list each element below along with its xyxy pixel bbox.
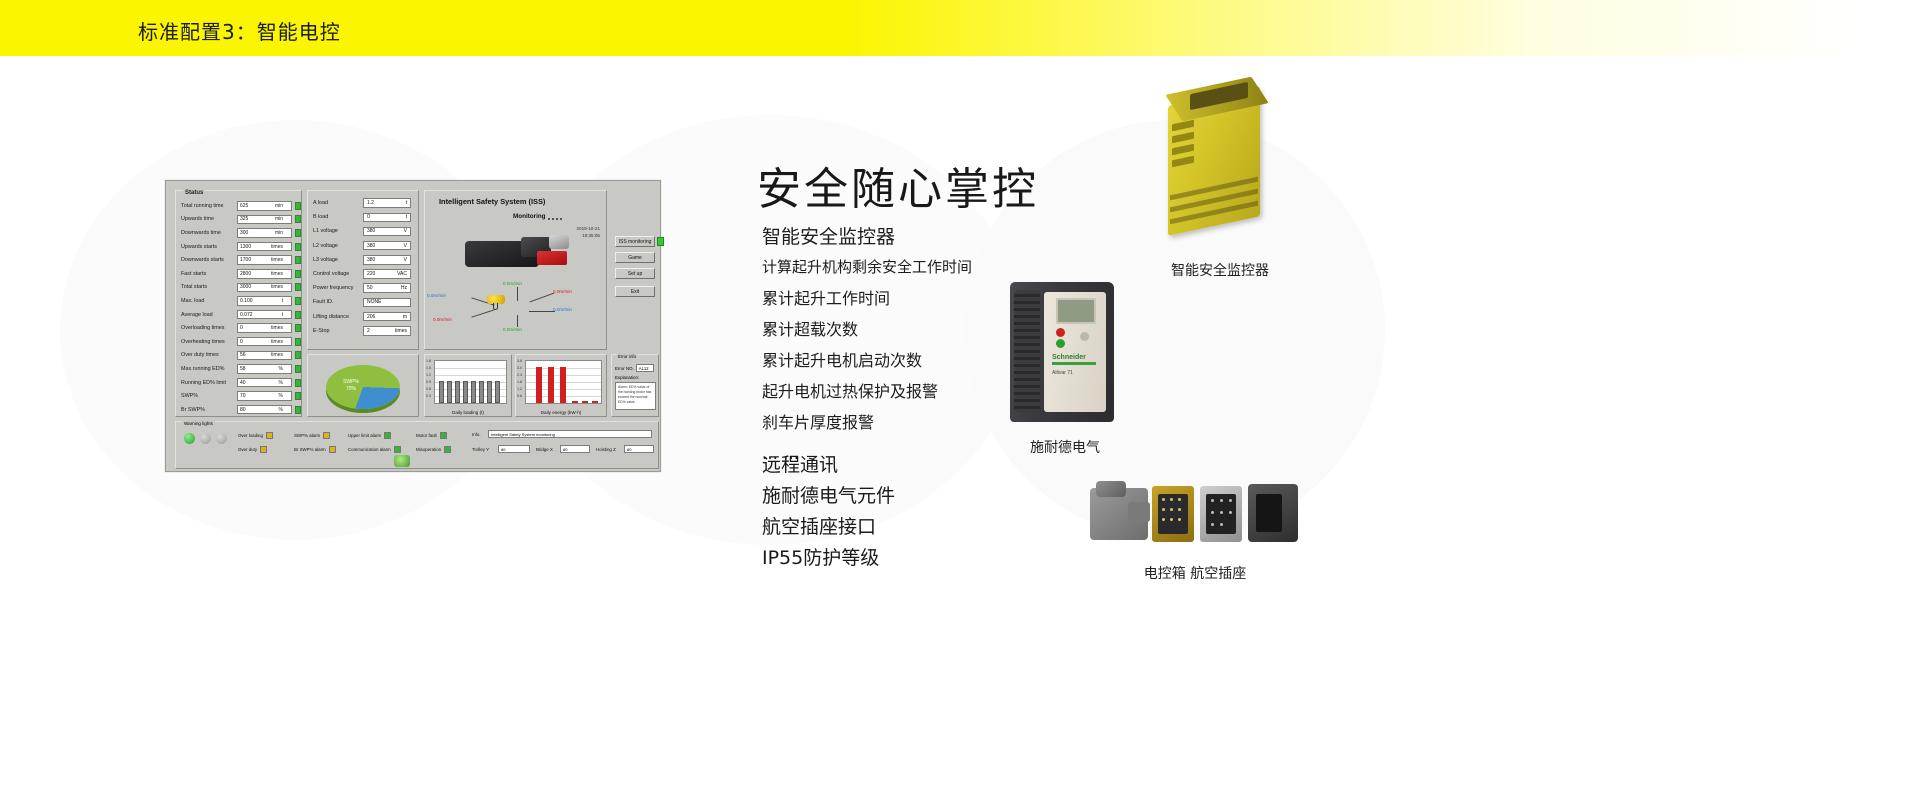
y-tick: 1.8 [517, 380, 522, 384]
game-button[interactable]: Game [615, 252, 655, 263]
row-label: Total running time [181, 203, 237, 209]
iss-title: Intelligent Safety System (ISS) [439, 197, 545, 206]
warning-led [329, 446, 336, 453]
row-value[interactable]: 1300times [237, 242, 292, 252]
error-explain-text: Alarm: ED% value of the hoisting motor h… [615, 382, 656, 410]
row-label: Downwards time [181, 230, 237, 236]
warning-item: Communication alarm [348, 446, 401, 453]
unit-text: t [406, 200, 407, 206]
warning-led [444, 446, 451, 453]
error-group-title: Error info [617, 354, 637, 359]
row-label: Overheating times [181, 339, 237, 345]
value-text: 2800 [240, 271, 251, 277]
warning-lights-group: Warning lights Over loading SWP% alarm U… [175, 421, 659, 469]
speed-label-right-down: 0.0m/min [553, 307, 572, 312]
y-tick: 3.6 [517, 359, 522, 363]
y-tick: 1.5 [426, 366, 431, 370]
connector-housing-black [1248, 484, 1298, 542]
row-label: Running ED% limit [181, 380, 237, 386]
status-group: Status Total running time625min Upwards … [175, 190, 302, 417]
row-value[interactable]: NONE [363, 298, 411, 308]
value-text: 380 [367, 257, 375, 263]
power-led-green [184, 433, 195, 444]
bottom-feature-item: 航空插座接口 [762, 512, 895, 543]
value-text: 625 [240, 203, 248, 209]
bar [471, 381, 476, 403]
warning-item: SWP% alarm [294, 432, 330, 439]
arrow-left-down [471, 309, 494, 317]
iss-datetime: 2019-10-21 18:35:06 [577, 225, 601, 239]
bar [560, 367, 566, 403]
row-value[interactable]: 380V [363, 241, 411, 251]
table-row[interactable]: A load1.2t [308, 196, 418, 210]
row-value[interactable]: 0.072t [237, 310, 292, 320]
drive-display [1056, 298, 1096, 324]
table-row[interactable]: SWP%70% [176, 389, 301, 403]
row-value[interactable]: 56times [237, 351, 292, 361]
warning-group-title: Warning lights [182, 421, 215, 426]
schneider-logo: Schneider [1052, 354, 1086, 361]
row-label: L1 voltage [313, 228, 363, 234]
row-label: Downwards starts [181, 257, 237, 263]
power-led-gray-1 [200, 433, 211, 444]
unit-text: times [271, 257, 289, 263]
row-label: SWP% [181, 393, 237, 399]
row-value[interactable]: 0t [363, 213, 411, 223]
hook-icon [487, 295, 507, 307]
daily-energy-plot [525, 360, 602, 404]
row-value[interactable]: 58% [237, 364, 292, 374]
daily-energy-chart: 3.6 3.0 2.4 1.8 1.2 0.6 Daily energy (kW… [515, 354, 607, 417]
drive-front-panel: Schneider Altivar 71 [1044, 292, 1106, 412]
bridge-label: Bridge X [536, 447, 553, 452]
row-label: Upwards starts [181, 244, 237, 250]
feature-item: 累计起升电机启动次数 [762, 345, 972, 376]
speed-label-right-up: 0.0m/min [553, 289, 572, 294]
warning-item: Br SWP% alarm [294, 446, 336, 453]
value-text: 0 [240, 339, 243, 345]
unit-text: min [275, 216, 289, 222]
y-tick: 3.0 [517, 366, 522, 370]
unit-text: times [395, 328, 407, 334]
row-value[interactable]: 2times [363, 326, 411, 336]
value-text: 3000 [240, 284, 251, 290]
row-value[interactable]: 1.2t [363, 198, 411, 208]
row-label: Upwards time [181, 216, 237, 222]
status-led [295, 243, 301, 251]
warning-label: Br SWP% alarm [294, 447, 326, 452]
y-tick: 1.2 [517, 387, 522, 391]
drive-heatsink [1014, 290, 1040, 412]
row-label: A load [313, 200, 363, 206]
value-text: 2 [367, 328, 370, 334]
warning-item: Misoperation [416, 446, 451, 453]
feature-item: 智能安全监控器 [762, 222, 972, 252]
y-tick: 1.2 [426, 373, 431, 377]
status-led [295, 338, 301, 346]
value-text: 380 [367, 243, 375, 249]
speed-label-down: 0.0m/min [503, 327, 522, 332]
info-value[interactable]: Intelligent Safety System monitoring [488, 430, 652, 438]
warning-item: Upper limit alarm [348, 432, 391, 439]
value-text: 325 [240, 216, 248, 222]
warning-led [384, 432, 391, 439]
unit-text: times [271, 325, 289, 331]
warning-led [394, 446, 401, 453]
bottom-feature-item: 远程通讯 [762, 450, 895, 481]
table-row[interactable]: L3 voltage380V [308, 253, 418, 267]
value-text: 40 [240, 380, 246, 386]
hmi-screenshot-panel[interactable]: Status Total running time625min Upwards … [165, 180, 661, 472]
arrow-up [517, 287, 518, 301]
warning-item: Over loading [238, 432, 273, 439]
table-row[interactable]: Overheating times0times [176, 335, 301, 349]
feature-item: 累计超载次数 [762, 314, 972, 345]
daily-energy-caption: Daily energy (kW·h) [516, 410, 606, 415]
schneider-logo-bar [1052, 362, 1096, 365]
row-label: Max. load [181, 298, 237, 304]
row-value[interactable]: 2800times [237, 269, 292, 279]
row-value[interactable]: 380V [363, 227, 411, 237]
drive-nav-key [1080, 332, 1089, 341]
swp-pie-chart: SWP% 70% [307, 354, 419, 417]
value-text: 80 [240, 407, 246, 413]
row-value[interactable]: 0.100t [237, 296, 292, 306]
unit-text: Hz [401, 285, 407, 291]
daily-loading-caption: Daily loading (t) [425, 410, 511, 415]
status-led [295, 406, 301, 414]
unit-text: t [406, 214, 407, 220]
pie-label-top: SWP% [343, 379, 359, 385]
value-text: 206 [367, 314, 375, 320]
unit-text: min [275, 203, 289, 209]
bar [548, 367, 554, 403]
row-value[interactable]: 40% [237, 378, 292, 388]
warning-label: Motor fault [416, 433, 437, 438]
logo-badge [394, 455, 410, 467]
value-text: 220 [367, 271, 375, 277]
iss-time: 18:35:06 [582, 233, 600, 238]
status-led [295, 256, 301, 264]
row-label: L2 voltage [313, 243, 363, 249]
table-row[interactable]: Downwards time300min [176, 226, 301, 240]
measurement-row-list: A load1.2t B load0t L1 voltage380V L2 vo… [308, 191, 418, 338]
connector-hood-gray [1090, 488, 1148, 540]
speed-label-left-up: 0.0m/min [427, 293, 446, 298]
unit-text: % [279, 380, 289, 386]
feature-item: 刹车片厚度报警 [762, 407, 972, 438]
y-tick: 0.3 [426, 394, 431, 398]
connector-housing-cavity [1256, 494, 1282, 532]
unit-text: times [271, 339, 289, 345]
row-label: E-Stop [313, 328, 363, 334]
drive-stop-key [1056, 328, 1065, 337]
row-label: Fast starts [181, 271, 237, 277]
y-tick: 2.4 [517, 373, 522, 377]
unit-text: VAC [397, 271, 407, 277]
table-row[interactable]: Average load0.072t [176, 308, 301, 322]
table-row[interactable]: L2 voltage380V [308, 239, 418, 253]
unit-text: times [271, 271, 289, 277]
value-text: 0.072 [240, 312, 253, 318]
status-led [295, 283, 301, 291]
bar [447, 381, 452, 403]
status-led [295, 297, 301, 305]
row-label: Over duty times [181, 352, 237, 358]
page-banner: 标准配置3：智能电控 [0, 0, 1920, 56]
row-label: Fault ID. [313, 299, 363, 305]
bridge-value[interactable]: 80 [560, 445, 590, 453]
pie-label-bottom: 70% [346, 386, 356, 392]
value-text: 50 [367, 285, 373, 291]
page-title: 标准配置3：智能电控 [138, 16, 341, 45]
unit-text: % [279, 407, 289, 413]
unit-text: times [271, 352, 289, 358]
value-text: 0.100 [240, 298, 253, 304]
connector-insert-male-core [1158, 494, 1188, 534]
y-tick: 0.6 [517, 394, 522, 398]
status-led [295, 215, 301, 223]
row-value[interactable]: 325min [237, 215, 292, 225]
table-row[interactable]: E-Stop2times [308, 324, 418, 338]
iss-monitor-group: Intelligent Safety System (ISS) Monitori… [424, 190, 607, 350]
status-led [295, 365, 301, 373]
status-led [295, 270, 301, 278]
status-row-list: Total running time625min Upwards time325… [176, 191, 301, 417]
table-row[interactable]: Downwards starts1700times [176, 253, 301, 267]
arrow-down [517, 315, 518, 327]
value-text: 380 [367, 228, 375, 234]
info-label: Info. [472, 432, 481, 437]
value-text: 58 [240, 366, 246, 372]
warning-label: Upper limit alarm [348, 433, 381, 438]
iss-date: 2019-10-21 [577, 226, 601, 231]
schneider-drive-photo: Schneider Altivar 71 [1010, 282, 1130, 427]
table-row[interactable]: Running ED% limit40% [176, 376, 301, 390]
hoist-control-box [537, 251, 567, 265]
error-info-group: Error info Error NO. AL12 Explanation: A… [611, 354, 659, 417]
table-row[interactable]: Fault ID.NONE [308, 295, 418, 309]
row-value[interactable]: 1700times [237, 255, 292, 265]
safety-relay-caption: 智能安全监控器 [1160, 260, 1280, 280]
row-label: Power frequency [313, 285, 363, 291]
table-row[interactable]: Overloading times0times [176, 321, 301, 335]
unit-text: t [282, 298, 289, 304]
iss-monitoring-led [657, 237, 664, 246]
row-label: Lifting distance [313, 314, 363, 320]
hoist-value[interactable]: 80 [624, 445, 654, 453]
pie-label: SWP% 70% [336, 379, 366, 393]
warning-led [323, 432, 330, 439]
value-text: 0 [240, 325, 243, 331]
row-value[interactable]: 220VAC [363, 269, 411, 279]
y-tick: 0.9 [426, 380, 431, 384]
hoist-photo [461, 235, 571, 277]
feature-list: 智能安全监控器 计算起升机构剩余安全工作时间 累计起升工作时间 累计超载次数 累… [762, 222, 972, 469]
status-led [295, 324, 301, 332]
connector-insert-female [1200, 486, 1242, 542]
row-value[interactable]: 0times [237, 337, 292, 347]
bar [479, 381, 484, 403]
row-value[interactable]: 3000times [237, 283, 292, 293]
hoist-motor [549, 235, 569, 249]
table-row[interactable]: Total starts3000times [176, 281, 301, 295]
table-row[interactable]: Upwards time325min [176, 213, 301, 227]
unit-text: % [279, 366, 289, 372]
speed-label-up: 0.0m/min [503, 281, 522, 286]
y-tick: 1.8 [426, 359, 431, 363]
bar [582, 401, 588, 403]
table-row[interactable]: Power frequency50Hz [308, 281, 418, 295]
measurement-group: A load1.2t B load0t L1 voltage380V L2 vo… [307, 190, 419, 350]
table-row[interactable]: Max.running ED%58% [176, 362, 301, 376]
error-code-value[interactable]: AL12 [636, 364, 654, 372]
value-text: 70 [240, 393, 246, 399]
unit-text: min [275, 230, 289, 236]
feature-item: 计算起升机构剩余安全工作时间 [762, 252, 972, 283]
row-label: Control voltage [313, 271, 363, 277]
row-value[interactable]: 70% [237, 391, 292, 401]
row-value[interactable]: 50Hz [363, 283, 411, 293]
hook-hook [493, 303, 498, 310]
table-row[interactable]: Total running time625min [176, 199, 301, 213]
connectors-photo [1090, 480, 1300, 550]
unit-text: times [271, 244, 289, 250]
connectors-caption: 电控箱 航空插座 [1085, 563, 1305, 583]
connector-insert-male [1152, 486, 1194, 542]
status-led [295, 379, 301, 387]
status-led [295, 229, 301, 237]
table-row[interactable]: B load0t [308, 210, 418, 224]
row-label: Average load [181, 312, 237, 318]
warning-label: Misoperation [416, 447, 441, 452]
error-code-label: Error NO. [615, 366, 634, 371]
error-explain-label: Explanation: [615, 375, 639, 380]
row-label: Total starts [181, 284, 237, 290]
value-text: 0 [367, 214, 370, 220]
drive-keypad [1054, 328, 1098, 348]
row-value[interactable]: 206m [363, 312, 411, 322]
feature-item: 起升电机过热保护及报警 [762, 376, 972, 407]
unit-text: V [404, 228, 407, 234]
row-value[interactable]: 625min [237, 201, 292, 211]
warning-led [260, 446, 267, 453]
error-code-row: Error NO. AL12 [615, 364, 654, 372]
table-row[interactable]: Br SWP%80% [176, 403, 301, 417]
setup-button[interactable]: Set up [615, 268, 655, 279]
warning-item: Over duty [238, 446, 267, 453]
y-tick: 0.6 [426, 387, 431, 391]
warning-led [440, 432, 447, 439]
status-led [295, 311, 301, 319]
feature-item: 累计起升工作时间 [762, 283, 972, 314]
unit-text: times [271, 284, 289, 290]
connector-hood-latch [1128, 502, 1150, 522]
table-row[interactable]: L1 voltage380V [308, 224, 418, 238]
bar [455, 381, 460, 403]
arrow-right-down [529, 311, 555, 312]
warning-led [266, 432, 273, 439]
trolley-value[interactable]: 80 [498, 445, 530, 453]
bar [572, 401, 578, 403]
hoist-label: Hoisting Z [596, 447, 616, 452]
connector-hood-entry [1096, 481, 1126, 497]
unit-text: V [404, 257, 407, 263]
value-text: 300 [240, 230, 248, 236]
schneider-drive-caption: 施耐德电气 [1005, 437, 1125, 457]
table-row[interactable]: Upwards starts1300times [176, 240, 301, 254]
bar [536, 367, 542, 403]
warning-label: Over loading [238, 433, 263, 438]
iss-subtitle: Monitoring [513, 213, 546, 220]
status-led [295, 392, 301, 400]
bottom-feature-item: 施耐德电气元件 [762, 481, 895, 512]
unit-text: m [403, 314, 407, 320]
table-row[interactable]: Over duty times56times [176, 349, 301, 363]
safety-relay-photo [1160, 82, 1280, 242]
table-row[interactable]: Control voltage220VAC [308, 267, 418, 281]
table-row[interactable]: Fast starts2800times [176, 267, 301, 281]
row-value[interactable]: 300min [237, 228, 292, 238]
value-text: 56 [240, 352, 246, 358]
row-label: L3 voltage [313, 257, 363, 263]
arrow-right-up [530, 293, 555, 303]
bottom-feature-list: 远程通讯 施耐德电气元件 航空插座接口 IP55防护等级 [762, 450, 895, 574]
row-value[interactable]: 0times [237, 323, 292, 333]
warning-label: Over duty [238, 447, 257, 452]
row-label: B load [313, 214, 363, 220]
bar [592, 401, 598, 403]
warning-label: SWP% alarm [294, 433, 320, 438]
table-row[interactable]: Max. load0.100t [176, 294, 301, 308]
status-led [295, 202, 301, 210]
drive-model-label: Altivar 71 [1052, 370, 1073, 376]
daily-loading-plot [434, 360, 507, 404]
unit-text: % [279, 393, 289, 399]
row-label: Max.running ED% [181, 366, 237, 372]
unit-text: t [282, 312, 289, 318]
value-text: 1300 [240, 244, 251, 250]
power-led-gray-2 [216, 433, 227, 444]
value-text: 1700 [240, 257, 251, 263]
status-group-title: Status [183, 190, 205, 196]
warning-label: Communication alarm [348, 447, 391, 452]
value-text: NONE [367, 299, 381, 305]
speed-label-left-down: 0.0m/min [433, 317, 452, 322]
table-row[interactable]: Lifting distance206m [308, 310, 418, 324]
exit-button[interactable]: Exit [615, 286, 655, 297]
iss-monitoring-button[interactable]: ISS monitoring [615, 236, 655, 247]
unit-text: V [404, 243, 407, 249]
value-text: 1.2 [367, 200, 374, 206]
hmi-button-group: ISS monitoring Game Set up Exit [611, 190, 659, 350]
row-label: Overloading times [181, 325, 237, 331]
trolley-label: Trolley Y [472, 447, 489, 452]
bar [487, 381, 492, 403]
bar [439, 381, 444, 403]
headline: 安全随心掌控 [757, 153, 1039, 217]
bar [463, 381, 468, 403]
row-label: Br SWP% [181, 407, 237, 413]
warning-item: Motor fault [416, 432, 447, 439]
bottom-feature-item: IP55防护等级 [762, 543, 895, 574]
row-value[interactable]: 80% [237, 405, 292, 415]
drive-run-key [1056, 339, 1065, 348]
connector-insert-female-core [1206, 494, 1236, 534]
bar [495, 381, 500, 403]
daily-loading-chart: 1.8 1.5 1.2 0.9 0.6 0.3 Daily loading (t… [424, 354, 512, 417]
row-value[interactable]: 380V [363, 255, 411, 265]
